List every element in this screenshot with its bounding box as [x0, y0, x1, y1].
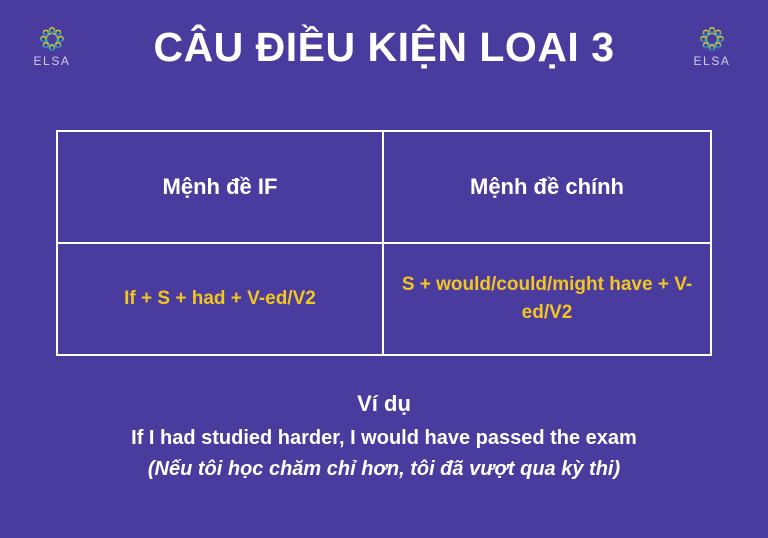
- table-formula-row: If + S + had + V-ed/V2 S + would/could/m…: [58, 242, 710, 354]
- table-header-row: Mệnh đề IF Mệnh đề chính: [58, 132, 710, 242]
- page-title: CÂU ĐIỀU KIỆN LOẠI 3: [0, 24, 768, 71]
- conditional-structure-table: Mệnh đề IF Mệnh đề chính If + S + had + …: [56, 130, 712, 356]
- table-header-main-clause-label: Mệnh đề chính: [470, 173, 624, 202]
- table-header-if-clause: Mệnh đề IF: [58, 132, 384, 242]
- example-english-sentence: If I had studied harder, I would have pa…: [0, 425, 768, 451]
- table-cell-main-formula: S + would/could/might have + V-ed/V2: [384, 244, 710, 354]
- if-clause-formula: If + S + had + V-ed/V2: [124, 285, 316, 313]
- table-header-main-clause: Mệnh đề chính: [384, 132, 710, 242]
- example-section: Ví dụ If I had studied harder, I would h…: [0, 390, 768, 482]
- table-cell-if-formula: If + S + had + V-ed/V2: [58, 244, 384, 354]
- main-clause-formula: S + would/could/might have + V-ed/V2: [394, 271, 700, 326]
- example-label: Ví dụ: [0, 390, 768, 418]
- slide-root: { "theme": { "background": "#4a3c9e", "t…: [0, 0, 768, 538]
- example-vietnamese-translation: (Nếu tôi học chăm chỉ hơn, tôi đã vượt q…: [0, 456, 768, 482]
- table-header-if-clause-label: Mệnh đề IF: [163, 173, 278, 202]
